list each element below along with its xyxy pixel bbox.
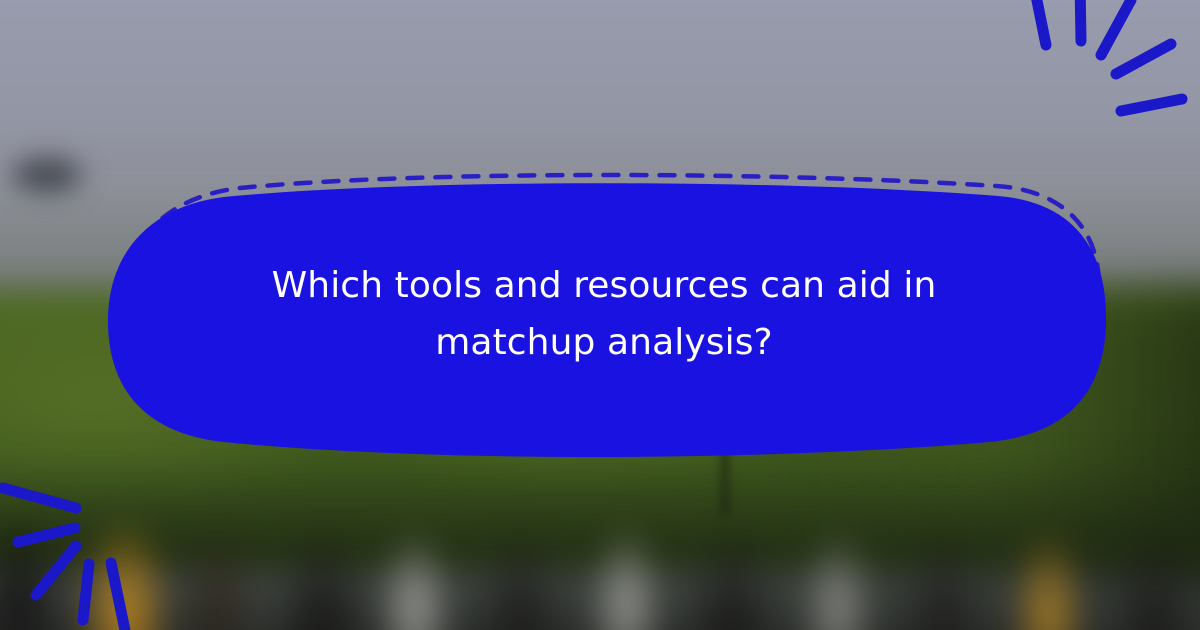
question-line-2: matchup analysis? [435,314,773,371]
question-line-1: Which tools and resources can aid in [272,257,937,314]
background-blur-blob [12,158,82,192]
sparkle-burst-bottom-left-icon [0,440,168,630]
question-card: Which tools and resources can aid in mat… [96,166,1112,462]
sparkle-burst-top-right-icon [988,0,1200,178]
background-crowd [0,454,1200,630]
question-text: Which tools and resources can aid in mat… [96,166,1112,462]
